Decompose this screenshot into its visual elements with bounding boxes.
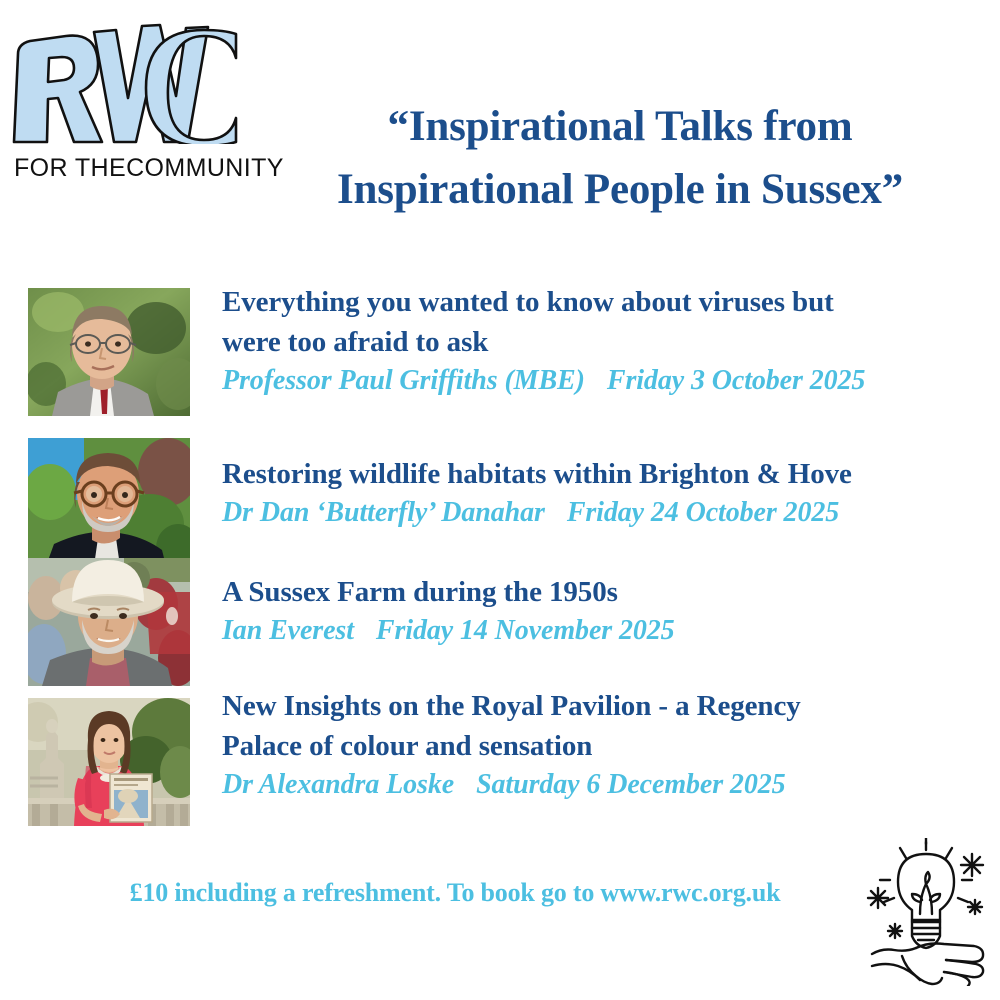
- talk-meta: Dr Dan ‘Butterfly’ DanaharFriday 24 Octo…: [222, 494, 992, 533]
- talk-speaker: Professor Paul Griffiths (MBE): [222, 365, 585, 396]
- talk-title: Restoring wildlife habitats within Brigh…: [222, 454, 992, 494]
- rwc-logo-tagline: FOR THECOMMUNITY: [14, 154, 240, 183]
- talk-title-line-1: Everything you wanted to know about viru…: [222, 282, 992, 322]
- hand-holding-lightbulb-icon: [862, 838, 990, 986]
- speaker-photo: [28, 288, 190, 416]
- talk-meta: Professor Paul Griffiths (MBE)Friday 3 O…: [222, 362, 992, 401]
- talk-text: Everything you wanted to know about viru…: [222, 282, 992, 401]
- poster-headline: “Inspirational Talks from Inspirational …: [250, 96, 990, 222]
- rwc-logo: FOR THECOMMUNITY: [8, 14, 240, 184]
- talk-title-line-2: were too afraid to ask: [222, 322, 992, 362]
- booking-note: £10 including a refreshment. To book go …: [60, 878, 850, 908]
- talk-meta: Dr Alexandra LoskeSaturday 6 December 20…: [222, 766, 992, 805]
- talk-text: A Sussex Farm during the 1950s Ian Evere…: [222, 572, 992, 651]
- talk-title-line-1: A Sussex Farm during the 1950s: [222, 572, 992, 612]
- talk-text: Restoring wildlife habitats within Brigh…: [222, 454, 992, 533]
- talk-title-line-2: Palace of colour and sensation: [222, 726, 992, 766]
- talk-title-line-1: New Insights on the Royal Pavilion - a R…: [222, 686, 992, 726]
- talk-meta: Ian EverestFriday 14 November 2025: [222, 612, 992, 651]
- rwc-logo-letters-icon: [8, 14, 240, 144]
- headline-line-1: “Inspirational Talks from: [250, 96, 990, 159]
- talk-text: New Insights on the Royal Pavilion - a R…: [222, 686, 992, 805]
- talk-title: Everything you wanted to know about viru…: [222, 282, 992, 362]
- talk-title: New Insights on the Royal Pavilion - a R…: [222, 686, 992, 766]
- speaker-photo: [28, 438, 190, 566]
- talk-title-line-1: Restoring wildlife habitats within Brigh…: [222, 454, 992, 494]
- talk-speaker: Dr Alexandra Loske: [222, 769, 454, 800]
- speaker-photo: [28, 558, 190, 686]
- poster-canvas: FOR THECOMMUNITY “Inspirational Talks fr…: [0, 0, 1000, 1000]
- talk-date: Friday 24 October 2025: [567, 497, 839, 528]
- headline-line-2: Inspirational People in Sussex”: [250, 159, 990, 222]
- talk-date: Friday 3 October 2025: [607, 365, 865, 396]
- talk-speaker: Dr Dan ‘Butterfly’ Danahar: [222, 497, 545, 528]
- talk-date: Saturday 6 December 2025: [476, 769, 785, 800]
- talk-title: A Sussex Farm during the 1950s: [222, 572, 992, 612]
- talk-speaker: Ian Everest: [222, 615, 354, 646]
- speaker-photo: [28, 698, 190, 826]
- talk-date: Friday 14 November 2025: [376, 615, 675, 646]
